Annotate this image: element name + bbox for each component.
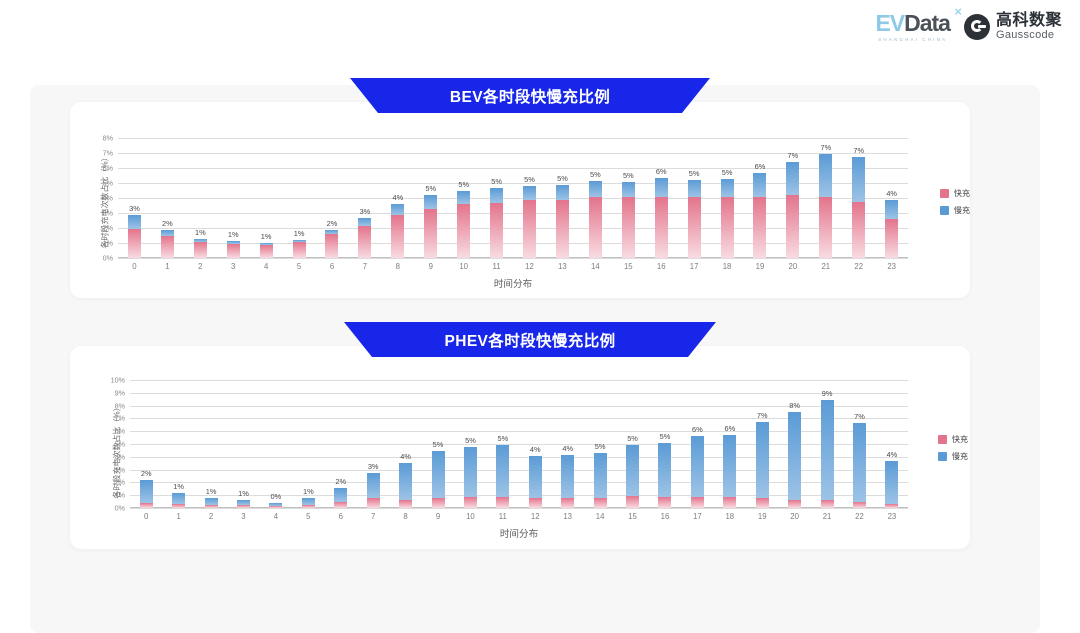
stacked-bar[interactable] [464,447,477,508]
bar-value-label: 2% [327,219,338,228]
bar-value-label: 1% [173,482,184,491]
bar-column[interactable]: 5%17 [678,138,711,258]
bar-segment-slow[interactable] [399,463,412,499]
stacked-bar[interactable] [658,443,671,508]
bar-segment-fast[interactable] [128,229,141,258]
stacked-bar[interactable] [457,191,470,259]
bar-segment-fast[interactable] [260,245,273,259]
bar-segment-slow[interactable] [529,456,542,499]
legend-item-fast-phev[interactable]: 快充 [938,434,968,445]
stacked-bar[interactable] [622,182,635,259]
stacked-bar[interactable] [161,230,174,258]
bar-column[interactable]: 7%22 [842,138,875,258]
chart-title-phev: PHEV各时段快慢充比例 [372,322,688,357]
x-axis-tick-label: 6 [339,512,343,521]
bar-column[interactable]: 1%2 [184,138,217,258]
x-axis-tick-label: 3 [241,512,245,521]
bar-segment-slow[interactable] [885,461,898,505]
legend-label-slow: 慢充 [954,205,970,216]
x-axis-tick-label: 21 [821,262,830,271]
bar-value-label: 2% [162,219,173,228]
evdata-data-text: Data [904,10,950,36]
stacked-bar[interactable] [194,239,207,259]
bar-column[interactable]: 5%11 [480,138,513,258]
legend-label-fast: 快充 [954,188,970,199]
bar-column[interactable]: 4%8 [389,380,421,508]
y-axis-tick-label: 1% [115,491,125,500]
bar-segment-fast[interactable] [358,226,371,258]
bar-segment-fast[interactable] [496,497,509,508]
bar-segment-fast[interactable] [334,502,347,508]
stacked-bar[interactable] [626,445,639,508]
bar-value-label: 3% [129,204,140,213]
bar-segment-slow[interactable] [885,200,898,219]
bar-column[interactable]: 5%15 [612,138,645,258]
x-axis-tick-label: 7 [363,262,367,271]
bar-value-label: 5% [623,171,634,180]
x-axis-tick-label: 6 [330,262,334,271]
bar-segment-slow[interactable] [721,179,734,196]
x-axis-tick-label: 21 [823,512,832,521]
bar-segment-fast[interactable] [194,242,207,259]
bar-column[interactable]: 9%21 [811,380,843,508]
bar-segment-slow[interactable] [464,447,477,498]
bar-column[interactable]: 5%18 [711,138,744,258]
bar-value-label: 6% [656,167,667,176]
bar-segment-fast[interactable] [556,200,569,259]
bar-value-label: 5% [425,184,436,193]
bar-segment-fast[interactable] [853,502,866,508]
bar-segment-fast[interactable] [161,236,174,258]
bar-column[interactable]: 1%2 [195,380,227,508]
bar-segment-slow[interactable] [490,188,503,203]
bar-column[interactable]: 5%16 [649,380,681,508]
bar-segment-slow[interactable] [594,453,607,498]
bar-column[interactable]: 1%5 [283,138,316,258]
evdata-logo: EVData× SHANGHAI CHINA [875,12,950,43]
bar-column[interactable]: 5%14 [579,138,612,258]
legend-item-slow-bev[interactable]: 慢充 [940,205,970,216]
stacked-bar[interactable] [523,186,536,258]
stacked-bar[interactable] [756,422,769,508]
bar-value-label: 5% [590,170,601,179]
bar-value-label: 1% [238,489,249,498]
bar-column[interactable]: 3%0 [118,138,151,258]
bar-segment-slow[interactable] [819,154,832,197]
bar-value-label: 1% [195,228,206,237]
bar-column[interactable]: 7%19 [746,380,778,508]
chart-title-bev: BEV各时段快慢充比例 [378,78,682,113]
x-axis-tick-label: 14 [591,262,600,271]
stacked-bar[interactable] [753,173,766,258]
stacked-bar[interactable] [227,241,240,258]
bar-segment-slow[interactable] [756,422,769,498]
bar-column[interactable]: 7%21 [809,138,842,258]
stacked-bar[interactable] [358,218,371,259]
legend-item-fast-bev[interactable]: 快充 [940,188,970,199]
bar-segment-slow[interactable] [334,488,347,501]
bar-segment-slow[interactable] [358,218,371,226]
stacked-bar[interactable] [594,453,607,508]
stacked-bar[interactable] [490,188,503,258]
bar-column[interactable]: 4%8 [381,138,414,258]
bar-value-label: 5% [465,436,476,445]
bar-segment-fast[interactable] [172,504,185,508]
bar-segment-fast[interactable] [723,497,736,508]
bar-segment-slow[interactable] [821,400,834,500]
x-axis-tick-label: 10 [466,512,475,521]
y-axis-tick-label: 6% [103,164,113,173]
bar-column[interactable]: 4%23 [876,380,908,508]
bar-segment-slow[interactable] [391,204,404,215]
bar-column[interactable]: 0%4 [260,380,292,508]
bar-value-label: 1% [261,232,272,241]
bar-column[interactable]: 5%10 [447,138,480,258]
stacked-bar[interactable] [852,157,865,258]
bar-value-label: 4% [887,450,898,459]
bar-value-label: 1% [303,487,314,496]
x-axis-tick-label: 14 [596,512,605,521]
x-axis-tick-label: 11 [499,512,507,521]
bar-segment-slow[interactable] [688,180,701,197]
stacked-bar[interactable] [885,461,898,508]
bar-segment-fast[interactable] [302,505,315,508]
bar-segment-slow[interactable] [786,162,799,195]
x-axis-tick-label: 13 [563,512,572,521]
stacked-bar[interactable] [788,412,801,508]
stacked-bar[interactable] [260,243,273,258]
bar-column[interactable]: 2%1 [151,138,184,258]
stacked-bar[interactable] [688,180,701,258]
bar-value-label: 6% [755,162,766,171]
evdata-tagline: SHANGHAI CHINA [878,38,947,43]
bar-value-label: 4% [400,452,411,461]
x-axis-tick-label: 4 [274,512,278,521]
bar-segment-slow[interactable] [561,455,574,499]
bar-value-label: 5% [627,434,638,443]
bar-segment-fast[interactable] [753,197,766,259]
stacked-bar[interactable] [325,230,338,259]
bar-segment-fast[interactable] [721,197,734,259]
bar-value-label: 5% [660,432,671,441]
x-axis-tick-label: 22 [854,262,863,271]
bar-segment-slow[interactable] [658,443,671,497]
stacked-bar[interactable] [172,493,185,508]
bar-value-label: 2% [335,477,346,486]
bar-column[interactable]: 4%13 [551,380,583,508]
stacked-bar[interactable] [293,240,306,258]
bar-segment-slow[interactable] [457,191,470,205]
bar-segment-slow[interactable] [496,445,509,497]
gausscode-en-text: Gausscode [996,30,1062,42]
y-axis-tick-label: 8% [115,401,125,410]
bar-group-phev: 2%01%11%21%30%41%52%63%74%85%95%105%114%… [130,380,908,508]
bar-value-label: 4% [392,193,403,202]
bar-segment-fast[interactable] [205,505,218,508]
x-axis-tick-label: 1 [176,512,180,521]
bar-value-label: 6% [692,425,703,434]
y-axis-tick-label: 5% [115,440,125,449]
stacked-bar[interactable] [853,423,866,508]
bar-value-label: 9% [822,389,833,398]
evdata-ev-text: EV [875,10,904,36]
bar-segment-slow[interactable] [788,412,801,500]
bar-segment-slow[interactable] [128,215,141,229]
bar-column[interactable]: 8%20 [778,380,810,508]
bar-segment-fast[interactable] [399,500,412,508]
bar-segment-slow[interactable] [655,178,668,197]
bar-segment-fast[interactable] [655,197,668,259]
bar-segment-slow[interactable] [723,435,736,497]
y-axis-tick-label: 8% [103,134,113,143]
bar-segment-fast[interactable] [626,496,639,508]
bar-column[interactable]: 7%22 [843,380,875,508]
legend-swatch-fast-icon [940,189,949,198]
bar-segment-slow[interactable] [367,473,380,498]
bar-segment-fast[interactable] [594,498,607,508]
bar-segment-fast[interactable] [432,498,445,508]
stacked-bar[interactable] [561,455,574,508]
stacked-bar[interactable] [334,488,347,508]
bar-column[interactable]: 6%16 [645,138,678,258]
stacked-bar[interactable] [140,480,153,508]
x-axis-tick-label: 5 [306,512,310,521]
x-axis-tick-label: 8 [396,262,400,271]
bar-segment-fast[interactable] [885,219,898,258]
stacked-bar[interactable] [556,185,569,259]
x-axis-title-phev: 时间分布 [500,526,538,540]
bar-value-label: 7% [854,412,865,421]
bar-segment-fast[interactable] [691,497,704,508]
bar-segment-fast[interactable] [237,505,250,508]
bar-segment-slow[interactable] [852,157,865,202]
bar-column[interactable]: 3%7 [357,380,389,508]
bar-value-label: 3% [368,462,379,471]
bar-segment-slow[interactable] [626,445,639,497]
stacked-bar[interactable] [723,435,736,508]
stacked-bar[interactable] [721,179,734,258]
bar-segment-fast[interactable] [457,204,470,258]
bar-column[interactable]: 4%12 [519,380,551,508]
legend-label-slow: 慢充 [952,451,968,462]
x-axis-tick-label: 18 [725,512,734,521]
bar-segment-fast[interactable] [589,197,602,259]
chart-plot-phev: 各时段充电次数占比（%） 时间分布 0%1%2%3%4%5%6%7%8%9%10… [130,380,908,508]
bar-segment-fast[interactable] [227,244,240,258]
logo-group: EVData× SHANGHAI CHINA 高科数聚 Gausscode [875,12,1062,43]
x-axis-title-bev: 时间分布 [494,276,532,290]
stacked-bar[interactable] [391,204,404,258]
gausscode-cn-text: 高科数聚 [996,13,1062,30]
bar-segment-fast[interactable] [464,497,477,508]
bar-value-label: 5% [524,175,535,184]
bar-column[interactable]: 6%18 [714,380,746,508]
bar-segment-fast[interactable] [529,498,542,508]
bar-segment-fast[interactable] [424,209,437,259]
x-axis-tick-label: 13 [558,262,567,271]
legend-item-slow-phev[interactable]: 慢充 [938,451,968,462]
x-axis-tick-label: 12 [531,512,540,521]
y-axis-tick-label: 6% [115,427,125,436]
stacked-bar[interactable] [496,445,509,508]
bar-segment-slow[interactable] [556,185,569,200]
bar-column[interactable]: 1%1 [162,380,194,508]
x-axis-tick-label: 9 [436,512,440,521]
stacked-bar[interactable] [655,178,668,258]
bar-column[interactable]: 1%5 [292,380,324,508]
x-axis-tick-label: 15 [628,512,637,521]
bar-segment-fast[interactable] [523,200,536,258]
bar-value-label: 4% [886,189,897,198]
x-axis-tick-label: 1 [165,262,169,271]
x-axis-tick-label: 2 [198,262,202,271]
x-axis-tick-label: 0 [132,262,136,271]
bar-column[interactable]: 5%13 [546,138,579,258]
y-axis-tick-label: 2% [103,224,113,233]
bar-segment-slow[interactable] [424,195,437,209]
bar-segment-slow[interactable] [622,182,635,198]
stacked-bar[interactable] [367,473,380,508]
bar-value-label: 1% [228,230,239,239]
y-axis-tick-label: 2% [115,478,125,487]
bar-value-label: 7% [853,146,864,155]
y-axis-tick-label: 10% [111,376,125,385]
bar-column[interactable]: 7%20 [776,138,809,258]
bar-segment-slow[interactable] [140,480,153,503]
x-axis-tick-label: 12 [525,262,534,271]
bar-column[interactable]: 1%3 [227,380,259,508]
bar-column[interactable]: 1%4 [250,138,283,258]
bar-column[interactable]: 6%17 [681,380,713,508]
bar-segment-slow[interactable] [753,173,766,196]
bar-segment-slow[interactable] [172,493,185,505]
bar-segment-fast[interactable] [786,195,799,258]
x-axis-tick-label: 16 [661,512,670,521]
bar-value-label: 2% [141,469,152,478]
bar-column[interactable]: 5%9 [414,138,447,258]
bar-segment-fast[interactable] [293,242,306,258]
bar-segment-fast[interactable] [885,504,898,508]
bar-segment-fast[interactable] [688,197,701,258]
x-axis-tick-label: 5 [297,262,301,271]
bar-column[interactable]: 5%14 [584,380,616,508]
x-axis-tick-label: 3 [231,262,235,271]
stacked-bar[interactable] [302,498,315,508]
bar-segment-fast[interactable] [756,498,769,508]
bar-value-label: 3% [360,207,371,216]
bar-value-label: 1% [294,229,305,238]
bar-column[interactable]: 1%3 [217,138,250,258]
x-axis-tick-label: 11 [493,262,501,271]
bar-value-label: 4% [562,444,573,453]
bar-column[interactable]: 5%10 [454,380,486,508]
bar-column[interactable]: 2%6 [325,380,357,508]
x-axis-tick-label: 17 [693,512,702,521]
bar-value-label: 6% [724,424,735,433]
stacked-bar[interactable] [399,463,412,508]
bar-column[interactable]: 4%23 [875,138,908,258]
bar-value-label: 5% [722,168,733,177]
stacked-bar[interactable] [432,451,445,508]
bar-value-label: 7% [820,143,831,152]
x-axis-tick-label: 22 [855,512,864,521]
y-axis-tick-label: 9% [115,388,125,397]
bar-segment-fast[interactable] [269,506,282,508]
stacked-bar[interactable] [205,498,218,508]
gausscode-mark-icon [964,14,990,40]
page-header: EVData× SHANGHAI CHINA 高科数聚 Gausscode [0,0,1080,62]
bar-column[interactable]: 6%19 [744,138,777,258]
x-axis-tick-label: 20 [789,262,798,271]
bar-segment-fast[interactable] [622,197,635,258]
bar-segment-slow[interactable] [691,436,704,497]
bar-segment-fast[interactable] [821,500,834,508]
x-axis-tick-label: 9 [429,262,433,271]
x-axis-tick-label: 4 [264,262,268,271]
legend-label-fast: 快充 [952,434,968,445]
bar-segment-fast[interactable] [490,203,503,258]
bar-column[interactable]: 5%15 [616,380,648,508]
bar-value-label: 7% [757,411,768,420]
stacked-bar[interactable] [589,181,602,258]
evdata-x-icon: × [954,5,961,18]
bar-value-label: 5% [595,442,606,451]
stacked-bar[interactable] [269,503,282,508]
stacked-bar[interactable] [819,154,832,258]
bar-segment-fast[interactable] [658,497,671,508]
bar-segment-slow[interactable] [523,186,536,200]
stacked-bar[interactable] [529,456,542,508]
bar-segment-fast[interactable] [561,498,574,508]
x-axis-tick-label: 23 [888,512,897,521]
bar-segment-fast[interactable] [788,500,801,508]
bar-segment-fast[interactable] [819,197,832,259]
gridline [118,258,908,259]
bar-column[interactable]: 2%6 [316,138,349,258]
bar-value-label: 5% [557,174,568,183]
bar-segment-slow[interactable] [589,181,602,197]
bar-column[interactable]: 5%9 [422,380,454,508]
bar-segment-slow[interactable] [302,498,315,505]
stacked-bar[interactable] [821,400,834,508]
stacked-bar[interactable] [885,200,898,258]
stacked-bar[interactable] [691,436,704,508]
bar-segment-fast[interactable] [367,498,380,508]
x-axis-tick-label: 2 [209,512,213,521]
bar-column[interactable]: 2%0 [130,380,162,508]
stacked-bar[interactable] [237,500,250,508]
bar-segment-slow[interactable] [853,423,866,502]
bar-segment-fast[interactable] [140,503,153,508]
bar-column[interactable]: 5%12 [513,138,546,258]
gausscode-wordmark: 高科数聚 Gausscode [996,13,1062,41]
y-axis-tick-label: 0% [115,504,125,513]
bar-segment-fast[interactable] [391,215,404,258]
stacked-bar[interactable] [128,215,141,259]
x-axis-tick-label: 8 [403,512,407,521]
bar-column[interactable]: 5%11 [487,380,519,508]
y-axis-tick-label: 7% [115,414,125,423]
bar-segment-fast[interactable] [325,234,338,258]
stacked-bar[interactable] [424,195,437,258]
x-axis-tick-label: 7 [371,512,375,521]
stacked-bar[interactable] [786,162,799,258]
bar-segment-slow[interactable] [432,451,445,498]
y-axis-tick-label: 1% [103,239,113,248]
bar-value-label: 4% [530,445,541,454]
bar-column[interactable]: 3%7 [348,138,381,258]
bar-segment-fast[interactable] [852,202,865,258]
